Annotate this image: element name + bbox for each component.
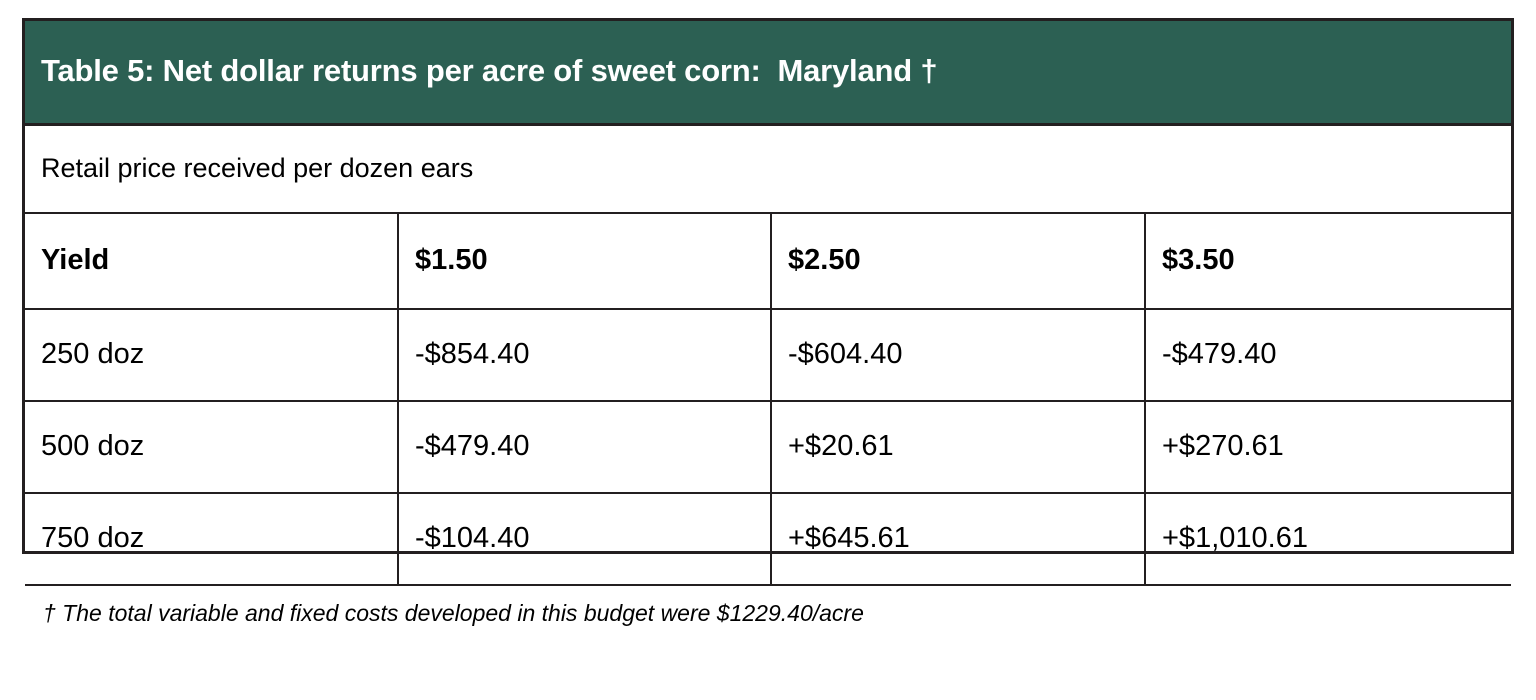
column-header-price-150: $1.50	[398, 213, 771, 309]
cell-return-250: +$20.61	[771, 401, 1145, 493]
cell-return-150: -$104.40	[398, 493, 771, 585]
table-title-row: Table 5: Net dollar returns per acre of …	[25, 21, 1511, 125]
table-subtitle-row: Retail price received per dozen ears	[25, 125, 1511, 214]
cell-yield: 750 doz	[25, 493, 398, 585]
cell-return-350: +$270.61	[1145, 401, 1511, 493]
cell-return-150: -$479.40	[398, 401, 771, 493]
cell-return-250: +$645.61	[771, 493, 1145, 585]
table-subtitle: Retail price received per dozen ears	[25, 125, 1511, 214]
cell-return-150: -$854.40	[398, 309, 771, 401]
table-row: 750 doz -$104.40 +$645.61 +$1,010.61	[25, 493, 1511, 585]
column-header-price-250: $2.50	[771, 213, 1145, 309]
cell-yield: 250 doz	[25, 309, 398, 401]
cell-yield: 500 doz	[25, 401, 398, 493]
table-footnote-row: † The total variable and fixed costs dev…	[25, 585, 1511, 700]
table-row: 500 doz -$479.40 +$20.61 +$270.61	[25, 401, 1511, 493]
cell-return-350: -$479.40	[1145, 309, 1511, 401]
cell-return-250: -$604.40	[771, 309, 1145, 401]
budget-table-container: Table 5: Net dollar returns per acre of …	[22, 18, 1514, 554]
column-header-price-350: $3.50	[1145, 213, 1511, 309]
net-returns-table: Table 5: Net dollar returns per acre of …	[25, 21, 1511, 700]
cell-return-350: +$1,010.61	[1145, 493, 1511, 585]
table-header-row: Yield $1.50 $2.50 $3.50	[25, 213, 1511, 309]
page-title: Table 5: Net dollar returns per acre of …	[25, 21, 1511, 125]
column-header-yield: Yield	[25, 213, 398, 309]
table-row: 250 doz -$854.40 -$604.40 -$479.40	[25, 309, 1511, 401]
table-footnote: † The total variable and fixed costs dev…	[25, 585, 1511, 700]
